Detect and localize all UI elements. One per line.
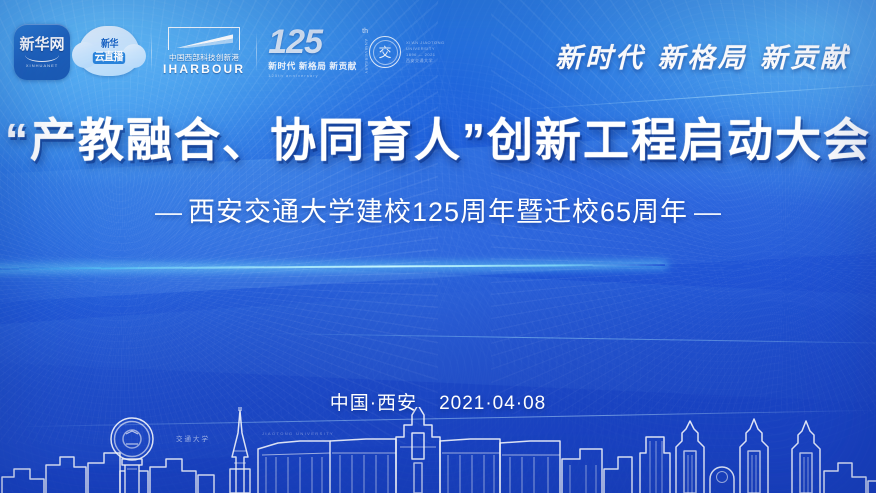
iharbour-logo-en: IHARBOUR <box>163 63 245 76</box>
cloud-logo-text: 新华 云直播 <box>91 40 127 63</box>
anniversary-ordinal: th <box>362 28 368 35</box>
cloud-logo-line1: 新华 <box>100 40 117 51</box>
subtitle-dash-right: — <box>688 197 727 227</box>
event-date: 2021·04·08 <box>439 393 546 414</box>
xjtu-seal-icon: 交 <box>369 36 401 68</box>
event-banner: 新华网 XINHUANET 新华 云直播 中国西部科技创新港 IHARBOUR … <box>0 0 876 493</box>
logo-bar: 新华网 XINHUANET 新华 云直播 中国西部科技创新港 IHARBOUR … <box>14 24 445 80</box>
background-bottom-shade <box>0 266 876 493</box>
subtitle-text: 西安交通大学建校125周年暨迁校65周年 <box>188 197 688 227</box>
xjtu-seal-glyph: 交 <box>378 46 391 59</box>
iharbour-sail-icon <box>168 27 240 50</box>
iharbour-logo[interactable]: 中国西部科技创新港 IHARBOUR <box>163 24 245 80</box>
subtitle-dash-left: — <box>149 197 188 227</box>
xinhuanet-logo[interactable]: 新华网 XINHUANET <box>14 24 70 80</box>
cloud-logo-line2: 云直播 <box>93 52 125 64</box>
logo-divider-1 <box>151 32 152 72</box>
anniversary-number: 125 <box>268 26 357 58</box>
xinhuanet-logo-cn: 新华网 <box>19 37 64 52</box>
anniversary-vertical-en: ANNIVERSARY <box>364 39 369 74</box>
title-block: “产教融合、协同育人”创新工程启动大会 —西安交通大学建校125周年暨迁校65周… <box>0 112 876 229</box>
anniversary-125-logo[interactable]: 125 th ANNIVERSARY 新时代 新格局 新贡献 125th ann… <box>268 24 444 80</box>
xinhuanet-swoosh-icon <box>25 55 59 62</box>
anniversary-subtitle-cn: 新时代 新格局 新贡献 <box>268 60 357 72</box>
event-meta: 中国·西安2021·04·08 <box>0 388 876 415</box>
anniversary-number-block: 125 th ANNIVERSARY 新时代 新格局 新贡献 125th ann… <box>268 26 357 77</box>
xinhuanet-logo-en: XINHUANET <box>26 63 58 68</box>
event-location: 中国·西安 <box>330 393 417 414</box>
page-subtitle: —西安交通大学建校125周年暨迁校65周年— <box>0 190 876 229</box>
logo-divider-2 <box>256 32 257 72</box>
page-title: “产教融合、协同育人”创新工程启动大会 <box>0 112 876 168</box>
xinhua-cloud-live-logo[interactable]: 新华 云直播 <box>78 24 140 80</box>
xjtu-seal-side-text: XI'AN JIAOTONG UNIVERSITY 1896 — 2021 西安… <box>406 35 445 69</box>
seal-side-line-3: 西安交通大学 <box>406 58 445 64</box>
header-slogan: 新时代 新格局 新贡献 <box>555 36 850 75</box>
anniversary-subtitle-en: 125th anniversary <box>268 73 357 78</box>
